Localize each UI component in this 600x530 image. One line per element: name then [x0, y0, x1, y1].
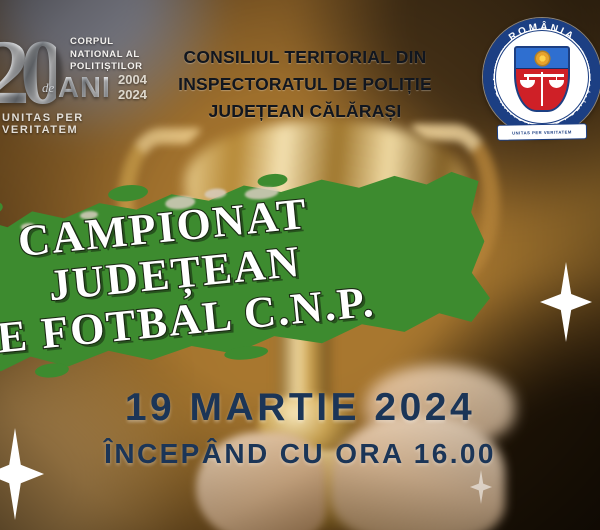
scales-pan-right	[549, 80, 564, 88]
flower-icon	[536, 52, 549, 65]
scales-post	[541, 72, 544, 106]
organizer-header: CONSILIUL TERITORIAL DIN INSPECTORATUL D…	[150, 44, 460, 125]
anniversary-numeral: 20	[0, 26, 56, 118]
shield-crest	[514, 46, 570, 112]
scales-pan-left	[520, 80, 535, 88]
scales-beam	[524, 74, 564, 77]
anniversary-years: 2004 2024	[118, 72, 147, 102]
anniversary-logo: 20 CORPUL NATIONAL AL POLITIȘTILOR de AN…	[0, 28, 164, 130]
anniversary-ani-word: ANI	[58, 72, 111, 105]
anniversary-de-word: de	[42, 80, 54, 96]
anniversary-year-from: 2004	[118, 72, 147, 87]
header-line-2: INSPECTORATUL DE POLIȚIE	[150, 71, 460, 98]
banner-title-text: CAMPIONAT JUDEȚEAN DE FOTBAL C.N.P.	[0, 175, 491, 363]
header-line-3: JUDEȚEAN CĂLĂRAȘI	[150, 98, 460, 125]
motto-ribbon: UNITAS PER VERITATEM	[497, 123, 587, 141]
event-time: ÎNCEPÂND CU ORA 16.00	[0, 438, 600, 470]
event-date: 19 MARTIE 2024	[0, 386, 600, 430]
poster-canvas: 20 CORPUL NATIONAL AL POLITIȘTILOR de AN…	[0, 0, 600, 530]
anniversary-year-to: 2024	[118, 87, 147, 102]
motto-ribbon-text: UNITAS PER VERITATEM	[512, 129, 572, 135]
cnp-emblem-badge: ROMÂNIA CORPUL NATIONAL AL POLIȚIȘTILOR …	[483, 18, 600, 136]
anniversary-motto: UNITAS PER VERITATEM	[2, 112, 164, 136]
header-line-1: CONSILIUL TERITORIAL DIN	[150, 44, 460, 71]
